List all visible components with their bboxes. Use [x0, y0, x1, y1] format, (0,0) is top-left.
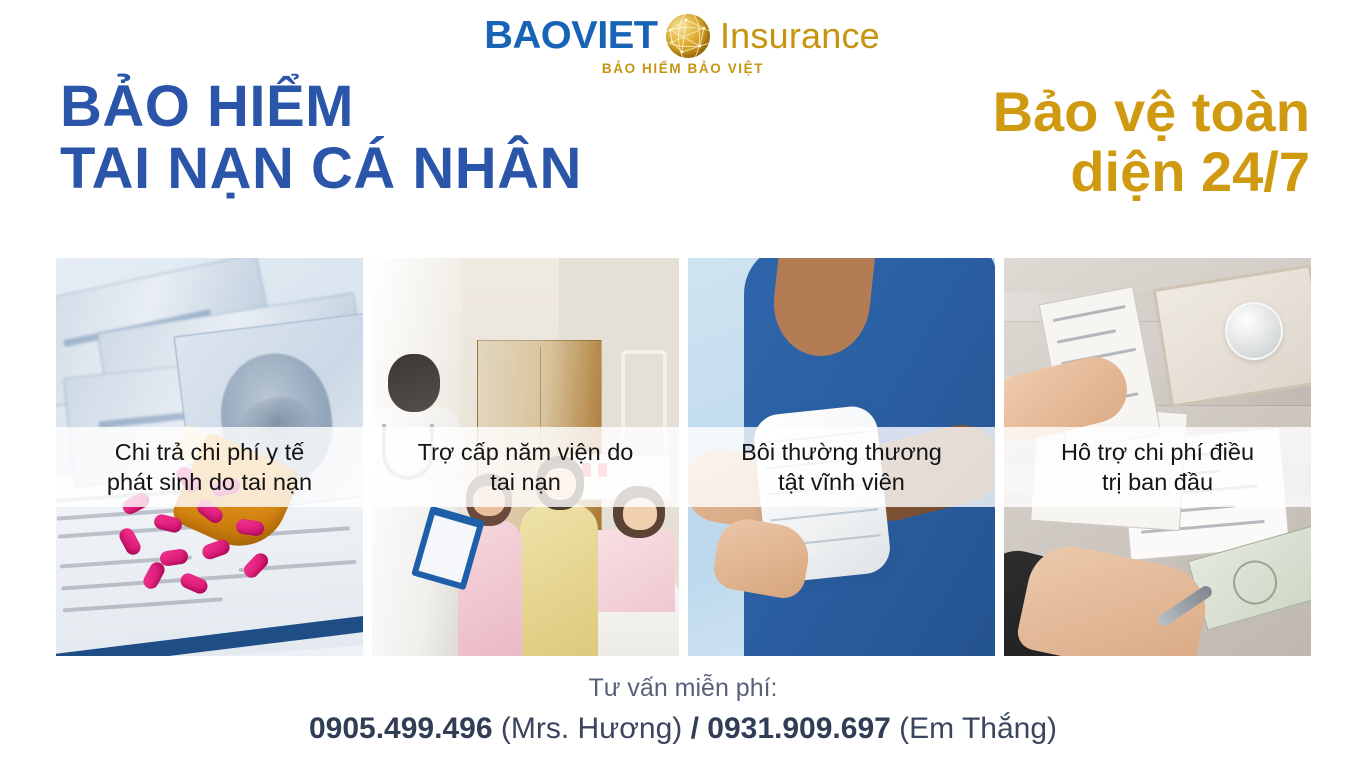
benefit-card-caption: Chi trả chi phí y tế phát sinh do tai nạ…: [56, 427, 363, 507]
logo-insurance-text: Insurance: [720, 15, 880, 57]
benefit-card[interactable]: Hô trợ chi phí điều trị ban đầu: [1004, 258, 1311, 656]
benefit-card-caption: Trợ cấp năm viện do tai nạn: [372, 427, 679, 507]
benefit-card[interactable]: Trợ cấp năm viện do tai nạn: [372, 258, 679, 656]
headline-accent: Bảo vệ toàn diện 24/7: [993, 82, 1310, 202]
benefit-card-list: Chi trả chi phí y tế phát sinh do tai nạ…: [56, 258, 1311, 656]
phone-number-secondary[interactable]: 0931.909.697: [707, 712, 891, 745]
benefit-card-caption: Bôi thường thương tật vĩnh viên: [688, 427, 995, 507]
footer-contact-line: 0905.499.496 (Mrs. Hương) / 0931.909.697…: [0, 712, 1366, 746]
phone-number-primary[interactable]: 0905.499.496: [309, 712, 493, 745]
logo-tagline: BẢO HIỂM BẢO VIỆT: [602, 61, 764, 76]
footer-lead-text: Tư vấn miễn phí:: [0, 674, 1366, 703]
contact-name-primary: (Mrs. Hương): [501, 712, 682, 745]
gold-globe-icon: [666, 14, 710, 58]
brand-logo: BAOVIET Insurance BẢO HIỂM BẢO VIỆT: [0, 14, 1366, 76]
logo-wordmark: BAOVIET: [484, 14, 657, 58]
contact-separator: /: [691, 712, 699, 745]
logo-row: BAOVIET Insurance: [486, 14, 880, 58]
contact-name-secondary: (Em Thắng): [899, 712, 1057, 745]
woman-visitor: [520, 504, 598, 656]
water-glass: [1225, 302, 1283, 360]
contact-footer: Tư vấn miễn phí: 0905.499.496 (Mrs. Hươn…: [0, 674, 1366, 746]
benefit-card[interactable]: Chi trả chi phí y tế phát sinh do tai nạ…: [56, 258, 363, 656]
benefit-card-caption: Hô trợ chi phí điều trị ban đầu: [1004, 427, 1311, 507]
globe-network-lines: [666, 14, 710, 58]
page-title: BẢO HIỂM TAI NẠN CÁ NHÂN: [60, 76, 582, 200]
benefit-card[interactable]: Bôi thường thương tật vĩnh viên: [688, 258, 995, 656]
insurance-poster: BAOVIET Insurance BẢO HIỂM BẢO VIỆT: [0, 0, 1366, 768]
